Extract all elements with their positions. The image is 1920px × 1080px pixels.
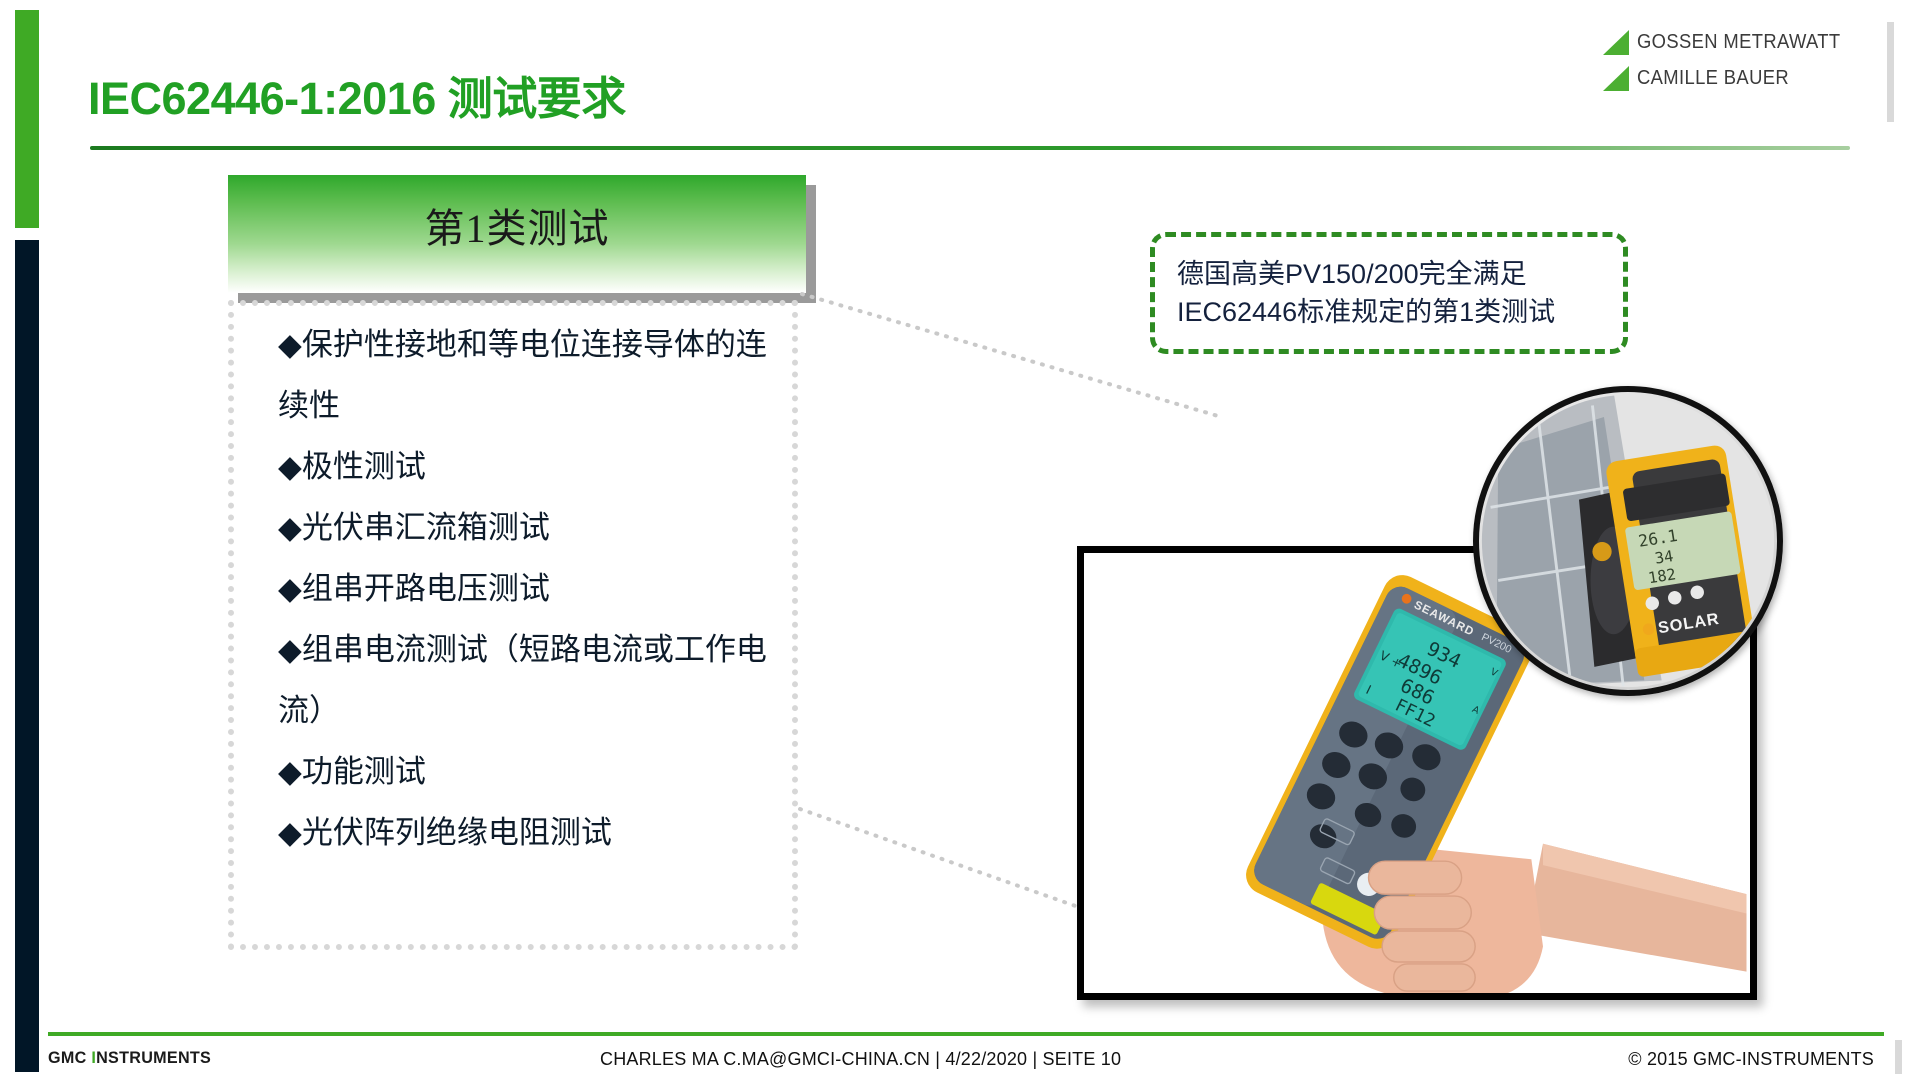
page-title: IEC62446-1:2016 测试要求	[88, 62, 626, 127]
footer-copyright: © 2015 GMC-INSTRUMENTS	[1628, 1049, 1874, 1070]
left-accent-bar-green	[15, 10, 39, 228]
callout-line-2: IEC62446标准规定的第1类测试	[1177, 293, 1555, 331]
connector-line-bottom	[798, 805, 1086, 915]
footer-right-gray-bar	[1895, 1040, 1902, 1074]
svg-text:34: 34	[1654, 547, 1675, 568]
callout-text: 德国高美PV150/200完全满足 IEC62446标准规定的第1类测试	[1155, 255, 1555, 331]
callout-line-1: 德国高美PV150/200完全满足	[1177, 255, 1555, 293]
category-heading-surface: 第1类测试	[228, 175, 806, 293]
title-underline	[90, 146, 1850, 150]
footer-divider	[48, 1032, 1884, 1036]
list-item: ◆保护性接地和等电位连接导体的连续性	[278, 314, 768, 436]
list-item: ◆光伏阵列绝缘电阻测试	[278, 802, 768, 863]
left-accent-bar-navy	[15, 240, 39, 1072]
green-triangle-icon	[1603, 66, 1629, 91]
bullet-list: ◆保护性接地和等电位连接导体的连续性 ◆极性测试 ◆光伏串汇流箱测试 ◆组串开路…	[278, 314, 768, 863]
category-heading-label: 第1类测试	[425, 196, 610, 254]
brand-row-camille: CAMILLE BAUER	[1603, 66, 1858, 91]
list-item: ◆极性测试	[278, 436, 768, 497]
footer-logo-rest: NSTRUMENTS	[96, 1048, 211, 1067]
brand-label-camille: CAMILLE BAUER	[1637, 67, 1789, 90]
footer-logo: GMC INSTRUMENTS	[48, 1048, 211, 1068]
circular-inset-photo: 26.1 34 182 SOLAR	[1473, 386, 1783, 696]
brand-logo: GOSSEN METRAWATT CAMILLE BAUER	[1603, 30, 1858, 91]
list-item: ◆光伏串汇流箱测试	[278, 497, 768, 558]
header-right-gray-bar	[1887, 22, 1894, 122]
footer-meta: CHARLES MA C.MA@GMCI-CHINA.CN | 4/22/202…	[600, 1049, 1121, 1070]
list-item: ◆组串开路电压测试	[278, 558, 768, 619]
brand-row-gossen: GOSSEN METRAWATT	[1603, 30, 1858, 55]
slide-canvas: IEC62446-1:2016 测试要求 GOSSEN METRAWATT CA…	[0, 0, 1920, 1080]
list-item: ◆功能测试	[278, 741, 768, 802]
footer-logo-main: GMC	[48, 1048, 91, 1067]
list-item: ◆组串电流测试（短路电流或工作电流）	[278, 619, 768, 741]
callout-box: 德国高美PV150/200完全满足 IEC62446标准规定的第1类测试	[1150, 232, 1628, 354]
category-heading-box: 第1类测试	[228, 175, 806, 293]
brand-label-gossen: GOSSEN METRAWATT	[1637, 31, 1841, 54]
green-triangle-icon	[1603, 30, 1629, 55]
inset-photo: 26.1 34 182 SOLAR	[1479, 392, 1777, 690]
